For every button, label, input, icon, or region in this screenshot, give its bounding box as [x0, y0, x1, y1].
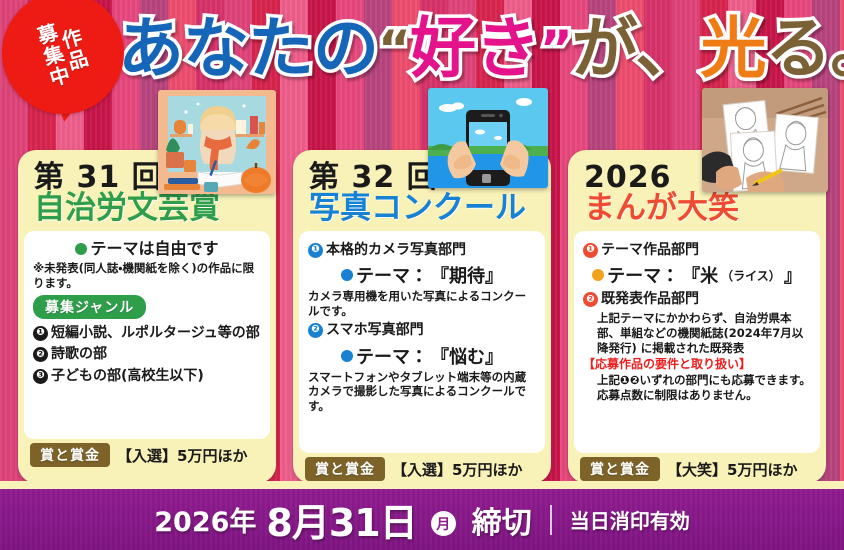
card-1-genre-3-text: 子どもの部(高校生以下)	[51, 366, 204, 386]
deadline-postmark-note: 当日消印有効	[570, 505, 690, 534]
yellow-divider-strip	[0, 481, 844, 489]
header-band: 作品 募集中 あなたの “ 好き ” が、 光 る。	[0, 0, 844, 96]
headline-open-quote: “	[378, 24, 410, 74]
card-2-theme-2-label: テーマ：	[356, 343, 428, 369]
deadline-bar: 2026年 8月31日 月 締切 当日消印有効	[0, 489, 844, 550]
card-3-section-1-title-text: テーマ作品部門	[601, 240, 699, 260]
card-1-lead: テーマは自由です	[33, 239, 261, 258]
thumbnail-manga-drawing	[702, 88, 828, 192]
card-1-genre-3: ❸ 子どもの部(高校生以下)	[33, 366, 261, 386]
card-3-name: まんが大笑	[584, 192, 816, 225]
card-3-warning-body: 上記❶❷いずれの部門にも応募できます。応募点数に制限はありません。	[583, 373, 811, 403]
card-1-note: ※未発表(同人誌・機関紙を除く)の作品に限ります。	[33, 261, 261, 290]
card-1-genre-2-text: 詩歌の部	[51, 344, 107, 364]
card-shashin-concours[interactable]: 第 32 回 写真コンクール ❶ 本格的カメラ写真部門 テーマ： 『期待』 カメ…	[293, 150, 551, 483]
number-badge-1-icon: ❶	[308, 243, 323, 258]
card-3-section-2-title: ❷ 既発表作品部門	[583, 289, 811, 309]
card-1-prize: 賞と賞金 【入選】5万円ほか	[24, 439, 270, 467]
bullet-dot-icon	[75, 243, 87, 255]
card-1-genre-2: ❷ 詩歌の部	[33, 344, 261, 364]
card-1-prize-label: 賞と賞金	[30, 443, 110, 467]
number-badge-2-icon: ❷	[33, 347, 48, 362]
card-1-genre-1-text: 短編小説、ルポルタージュ等の部	[51, 323, 260, 343]
card-2-name: 写真コンクール	[309, 192, 541, 225]
headline-suki: 好き	[410, 16, 540, 82]
deadline-year: 2026年	[154, 500, 256, 539]
card-3-body: ❶ テーマ作品部門 テーマ： 『米 （ライス） 』 ❷ 既発表作品部門 上記テー…	[574, 231, 820, 453]
card-1-lead-text: テーマは自由です	[90, 239, 218, 258]
recruiting-badge: 作品 募集中	[2, 0, 124, 114]
card-3-theme-label: テーマ：	[607, 262, 679, 288]
card-2-body: ❶ 本格的カメラ写真部門 テーマ： 『期待』 カメラ専用機を用いた写真によるコン…	[299, 231, 545, 453]
card-2-section-1-desc: カメラ専用機を用いた写真によるコンクールです。	[308, 289, 536, 319]
card-3-section-2-desc: 上記テーマにかかわらず、自治労県本部、単組などの機関紙誌(2024年7月以降発行…	[583, 311, 811, 356]
deadline-day-of-week: 月	[431, 511, 456, 536]
card-2-section-1-title-text: 本格的カメラ写真部門	[326, 240, 466, 260]
number-badge-1-icon: ❶	[33, 326, 48, 341]
headline-close-quote: ”	[540, 24, 572, 74]
thumbnail-smartphone-photo	[428, 88, 548, 188]
card-3-prize: 賞と賞金 【大笑】5万円ほか	[574, 453, 820, 481]
number-badge-3-icon: ❸	[33, 369, 48, 384]
card-3-section-2-title-text: 既発表作品部門	[601, 289, 699, 309]
card-1-genre-1: ❶ 短編小説、ルポルタージュ等の部	[33, 323, 261, 343]
card-2-section-1-title: ❶ 本格的カメラ写真部門	[308, 240, 536, 260]
card-2-theme-1-label: テーマ：	[356, 262, 428, 288]
card-1-genre-pill: 募集ジャンル	[33, 295, 146, 319]
bullet-dot-icon	[341, 350, 353, 362]
card-3-section-1-title: ❶ テーマ作品部門	[583, 240, 811, 260]
card-2-section-2-desc: スマートフォンやタブレット端末等の内蔵カメラで撮影した写真によるコンクールです。	[308, 370, 536, 415]
card-3-theme-suffix: （ライス）	[721, 267, 781, 284]
cards-row: 第 31 回 自治労文芸賞 テーマは自由です ※未発表(同人誌・機関紙を除く)の…	[0, 150, 844, 485]
card-2-section-2-theme: テーマ： 『悩む』	[308, 343, 536, 369]
card-3-prize-value: 【大笑】5万円ほか	[667, 459, 797, 480]
card-3-warning-heading: 【応募作品の要件と取り扱い】	[583, 357, 811, 372]
deadline-date: 8月31日	[266, 492, 416, 547]
card-2-theme-1-value: 『期待』	[431, 262, 503, 288]
card-manga-taisho[interactable]: 2026 まんが大笑 ❶ テーマ作品部門 テーマ： 『米 （ライス） 』 ❷ 既…	[568, 150, 826, 483]
number-badge-1-icon: ❶	[583, 243, 598, 258]
card-bungeisho[interactable]: 第 31 回 自治労文芸賞 テーマは自由です ※未発表(同人誌・機関紙を除く)の…	[18, 150, 276, 483]
card-2-prize: 賞と賞金 【入選】5万円ほか	[299, 453, 545, 481]
deadline-separator	[550, 505, 552, 535]
card-3-theme-close: 』	[784, 262, 802, 288]
headline-anata-no: あなたの	[118, 16, 378, 82]
poster: 作品 募集中 あなたの “ 好き ” が、 光 る。	[0, 0, 844, 550]
card-3-theme-value: 『米	[682, 262, 718, 288]
card-1-body: テーマは自由です ※未発表(同人誌・機関紙を除く)の作品に限ります。 募集ジャン…	[24, 231, 270, 439]
card-2-prize-value: 【入選】5万円ほか	[392, 459, 522, 480]
card-1-name: 自治労文芸賞	[34, 192, 266, 225]
card-3-prize-label: 賞と賞金	[580, 457, 660, 481]
bullet-dot-icon	[341, 269, 353, 281]
headline: あなたの “ 好き ” が、 光 る。	[118, 6, 844, 92]
number-badge-2-icon: ❷	[308, 323, 323, 338]
bullet-dot-icon	[592, 269, 604, 281]
card-2-section-2-title: ❷ スマホ写真部門	[308, 320, 536, 340]
headline-ru: る。	[765, 16, 844, 82]
card-2-section-1-theme: テーマ： 『期待』	[308, 262, 536, 288]
deadline-label: 締切	[472, 498, 532, 542]
card-3-section-1-theme: テーマ： 『米 （ライス） 』	[583, 262, 811, 288]
card-2-prize-label: 賞と賞金	[305, 457, 385, 481]
thumbnail-writing-desk	[158, 90, 276, 194]
card-2-section-2-title-text: スマホ写真部門	[326, 320, 424, 340]
number-badge-2-icon: ❷	[583, 292, 598, 307]
headline-hikaru: 光	[700, 16, 765, 82]
headline-ga: が、	[572, 16, 701, 82]
card-2-theme-2-value: 『悩む』	[431, 343, 503, 369]
card-1-prize-value: 【入選】5万円ほか	[117, 445, 247, 466]
